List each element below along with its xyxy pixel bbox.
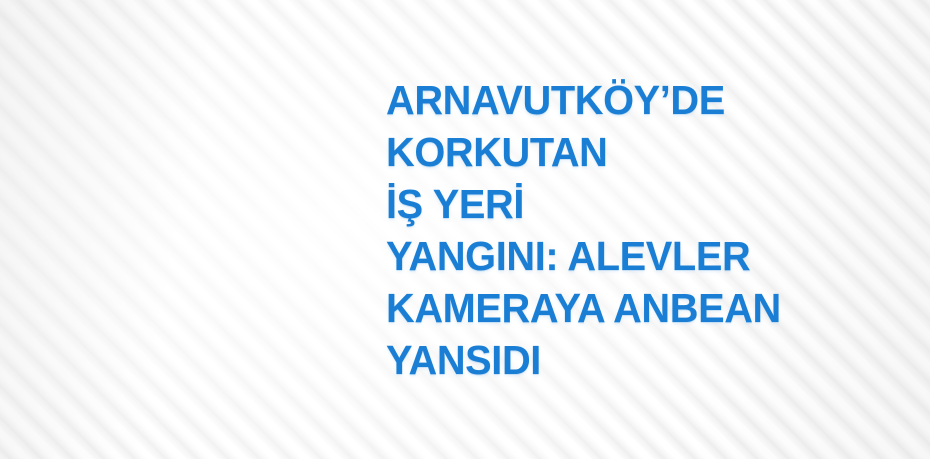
headline-text-block: ARNAVUTKÖY’DE KORKUTAN İŞ YERİ YANGINI: … [386,0,856,459]
headline-line-5: KAMERAYA ANBEAN [386,282,781,334]
headline-line-6: YANSIDI [386,334,541,386]
news-headline-card: ARNAVUTKÖY’DE KORKUTAN İŞ YERİ YANGINI: … [0,0,930,459]
headline-line-2: KORKUTAN [386,126,608,178]
headline-line-4: YANGINI: ALEVLER [386,230,750,282]
headline-line-1: ARNAVUTKÖY’DE [386,74,725,126]
headline-line-3: İŞ YERİ [386,178,524,230]
